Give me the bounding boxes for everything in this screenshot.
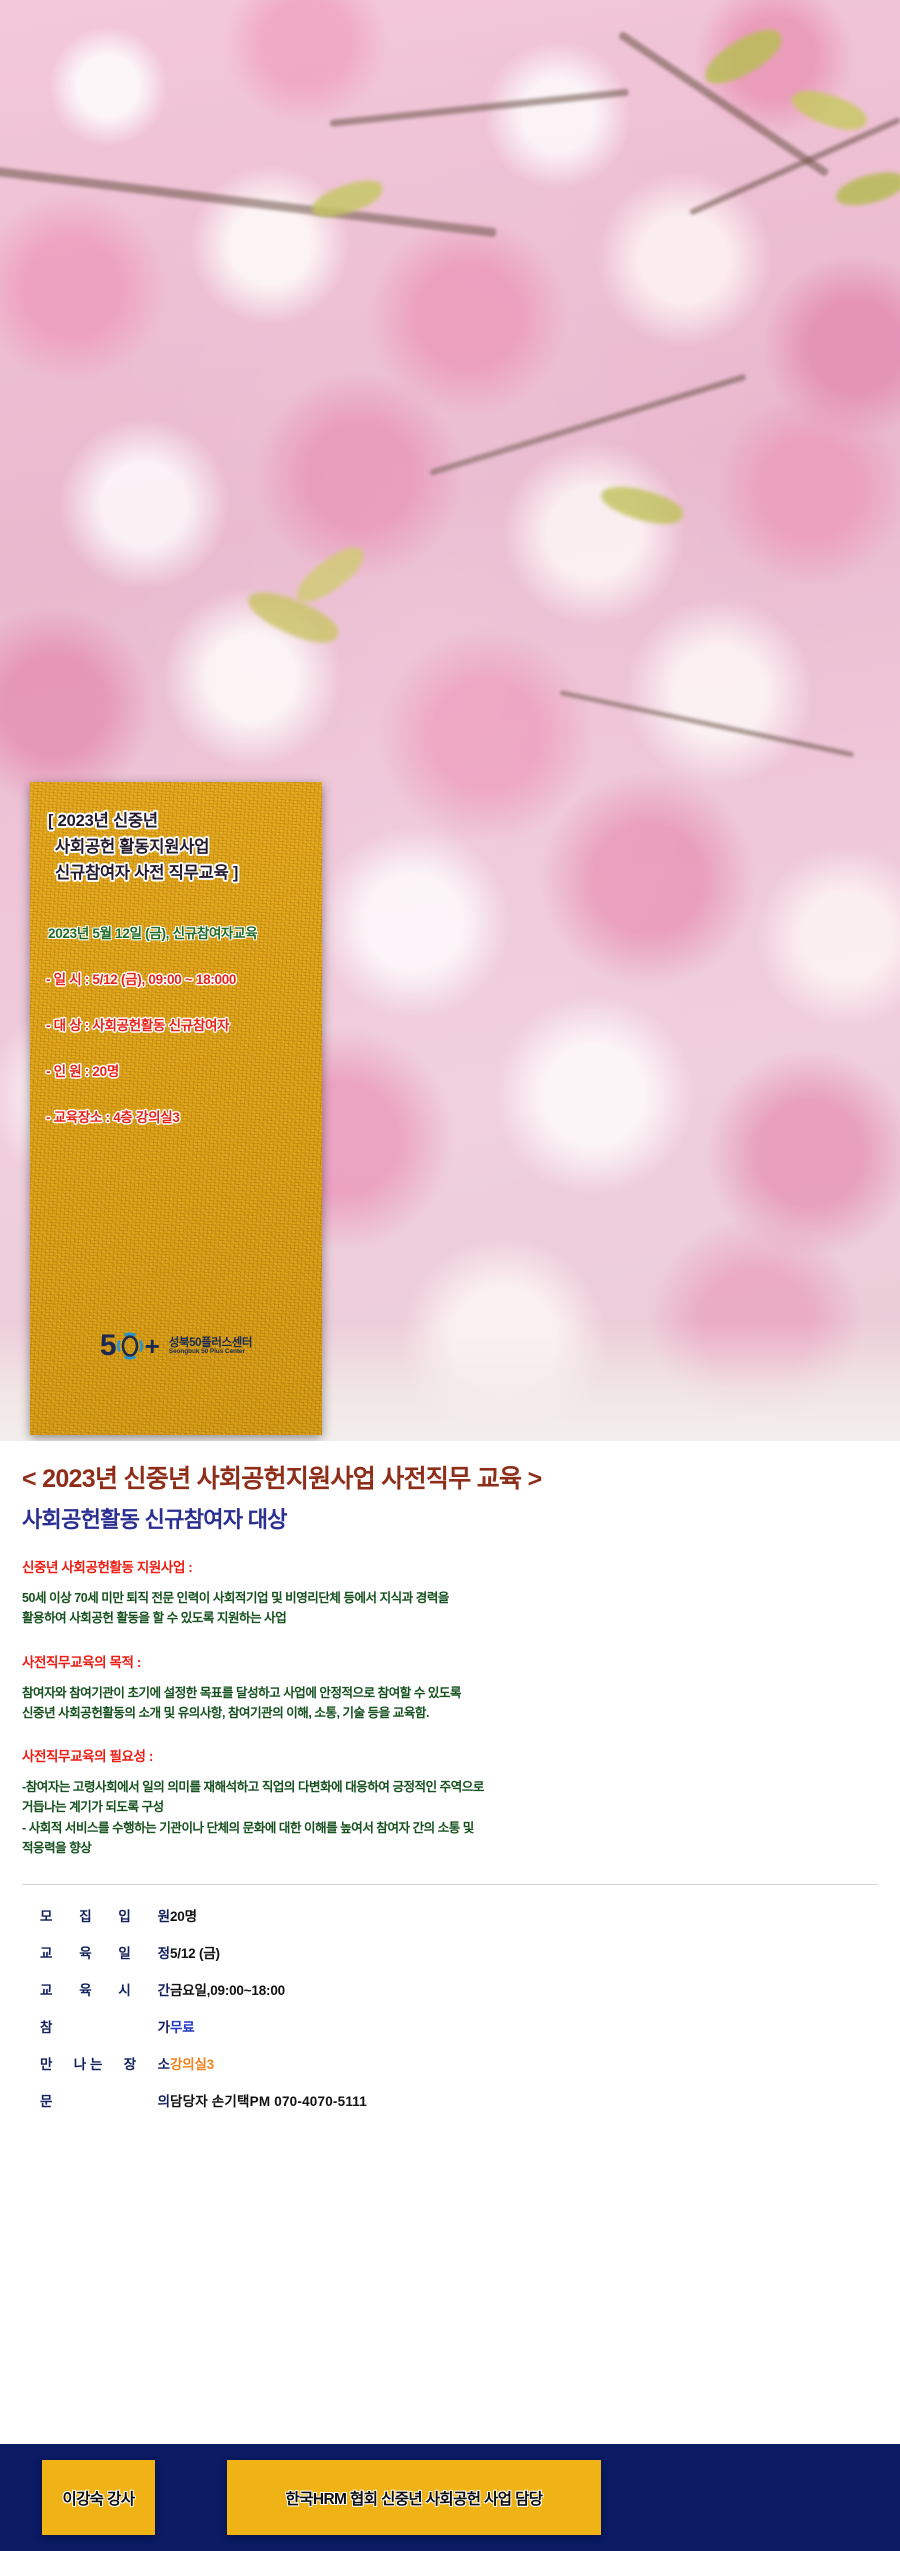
section-body-line: 50세 이상 70세 미만 퇴직 전문 인력이 사회적기업 및 비영리단체 등에…	[22, 1588, 900, 1608]
label-char: 집	[79, 1905, 91, 1925]
table-row-value: 무료	[170, 2016, 194, 2036]
table-row: 참 가 무료	[40, 2016, 900, 2036]
page-subtitle: 사회공헌활동 신규참여자 대상	[22, 1502, 900, 1534]
poster-date-line: 2023년 5월 12일 (금), 신규참여자교육	[44, 922, 308, 942]
instructor-badge-label: 이강숙 강사	[62, 2487, 134, 2509]
section-body-line: 거듭나는 계기가 되도록 구성	[22, 1797, 900, 1817]
section-training-necessity: 사전직무교육의 필요성 : -참여자는 고령사회에서 일의 의미를 재해석하고 …	[0, 1745, 900, 1858]
section-body: 50세 이상 70세 미만 퇴직 전문 인력이 사회적기업 및 비영리단체 등에…	[22, 1588, 900, 1629]
content-area: < 2023년 신중년 사회공헌지원사업 사전직무 교육 > 사회공헌활동 신규…	[0, 1441, 900, 2127]
instructor-badge[interactable]: 이강숙 강사	[42, 2460, 155, 2535]
table-row-label: 참 가	[40, 2016, 170, 2036]
poster-title-line-3: 신규참여자 사전 직무교육 ]	[48, 860, 308, 886]
logo-name-korean: 성북50플러스센터	[169, 1337, 252, 1349]
logo-name-english: Seongbuk 50 Plus Center	[169, 1349, 252, 1356]
section-training-purpose: 사전직무교육의 목적 : 참여자와 참여기관이 초기에 설정한 목표를 달성하고…	[0, 1651, 900, 1724]
label-char: 육	[79, 1979, 91, 1999]
table-row-value: 강의실3	[170, 2053, 214, 2073]
section-body: -참여자는 고령사회에서 일의 의미를 재해석하고 직업의 다변화에 대응하여 …	[22, 1777, 900, 1858]
table-row-label: 만 나 는 장 소	[40, 2053, 170, 2073]
section-heading: 신중년 사회공헌활동 지원사업 :	[22, 1556, 900, 1576]
poster-detail-capacity: - 인 원 : 20명	[44, 1060, 308, 1080]
label-char: 장	[124, 2053, 136, 2073]
organization-badge-label: 한국HRM 협회 신중년 사회공헌 사업 담당	[286, 2487, 543, 2509]
label-char: 육	[79, 1942, 91, 1962]
label-char: 일	[118, 1942, 130, 1962]
section-body-line: 활용하여 사회공헌 활동을 할 수 있도록 지원하는 사업	[22, 1608, 900, 1628]
table-divider	[22, 1884, 878, 1885]
section-body-line: 참여자와 참여기관이 초기에 설정한 목표를 달성하고 사업에 안정적으로 참여…	[22, 1683, 900, 1703]
section-body-line: 적응력을 향상	[22, 1838, 900, 1858]
table-row-value: 담당자 손기택PM 070-4070-5111	[170, 2090, 367, 2110]
poster-detail-datetime: - 일 시 : 5/12 (금), 09:00 ~ 18:000	[44, 968, 308, 988]
label-char: 입	[118, 1905, 130, 1925]
table-row: 교 육 시 간 금요일,09:00~18:00	[40, 1979, 900, 1999]
poster-card: [ 2023년 신중년 사회공헌 활동지원사업 신규참여자 사전 직무교육 ] …	[30, 782, 322, 1435]
section-program-overview: 신중년 사회공헌활동 지원사업 : 50세 이상 70세 미만 퇴직 전문 인력…	[0, 1556, 900, 1629]
section-body: 참여자와 참여기관이 초기에 설정한 목표를 달성하고 사업에 안정적으로 참여…	[22, 1683, 900, 1724]
label-char: 원	[158, 1905, 170, 1925]
poster-card-title: [ 2023년 신중년 사회공헌 활동지원사업 신규참여자 사전 직무교육 ]	[44, 808, 308, 886]
organization-badge[interactable]: 한국HRM 협회 신중년 사회공헌 사업 담당	[227, 2460, 601, 2535]
label-char: 시	[118, 1979, 130, 1999]
footer-bar: 이강숙 강사 한국HRM 협회 신중년 사회공헌 사업 담당	[0, 2444, 900, 2551]
poster-detail-venue: - 교육장소 : 4층 강의실3	[44, 1106, 308, 1126]
label-char: 소	[158, 2053, 170, 2073]
logo-plus-sign: +	[145, 1333, 160, 1359]
section-heading: 사전직무교육의 필요성 :	[22, 1745, 900, 1765]
label-char: 문	[40, 2090, 52, 2110]
poster-detail-audience: - 대 상 : 사회공헌활동 신규참여자	[44, 1014, 308, 1034]
section-body-line: 신중년 사회공헌활동의 소개 및 유의사항, 참여기관의 이해, 소통, 기술 …	[22, 1703, 900, 1723]
table-row: 교 육 일 정 5/12 (금)	[40, 1942, 900, 1962]
label-char: 나 는	[74, 2053, 103, 2073]
poster-title-line-1: [ 2023년 신중년	[48, 808, 308, 834]
logo-mark: 5 +	[100, 1331, 160, 1361]
table-row-value: 5/12 (금)	[170, 1942, 220, 1962]
table-row-label: 교 육 일 정	[40, 1942, 170, 1962]
label-char: 만	[40, 2053, 52, 2073]
label-char: 교	[40, 1942, 52, 1962]
table-row-value: 20명	[170, 1905, 197, 1925]
table-row: 문 의 담당자 손기택PM 070-4070-5111	[40, 2090, 900, 2110]
table-row-label: 교 육 시 간	[40, 1979, 170, 1999]
table-row-label: 문 의	[40, 2090, 170, 2110]
logo-digit-5: 5	[100, 1331, 116, 1361]
table-row-value: 금요일,09:00~18:00	[170, 1979, 285, 1999]
label-char: 참	[40, 2016, 52, 2036]
logo-center-name: 성북50플러스센터 Seongbuk 50 Plus Center	[169, 1337, 252, 1356]
label-char: 가	[158, 2016, 170, 2036]
section-heading: 사전직무교육의 목적 :	[22, 1651, 900, 1671]
section-body-line: -참여자는 고령사회에서 일의 의미를 재해석하고 직업의 다변화에 대응하여 …	[22, 1777, 900, 1797]
label-char: 정	[158, 1942, 170, 1962]
seongbuk-50plus-logo: 5 + 성북50플러스센터 Seongbuk 50 Plus Center	[30, 1331, 322, 1361]
info-table: 모 집 입 원 20명 교 육 일 정 5/12 (금) 교 육 시 간	[0, 1905, 900, 2110]
section-body-line: - 사회적 서비스를 수행하는 기관이나 단체의 문화에 대한 이해를 높여서 …	[22, 1818, 900, 1838]
label-char: 간	[158, 1979, 170, 1999]
poster-title-line-2: 사회공헌 활동지원사업	[48, 834, 308, 860]
logo-ring-icon	[115, 1331, 145, 1361]
table-row: 모 집 입 원 20명	[40, 1905, 900, 1925]
label-char: 교	[40, 1979, 52, 1999]
table-row-label: 모 집 입 원	[40, 1905, 170, 1925]
table-row: 만 나 는 장 소 강의실3	[40, 2053, 900, 2073]
page-title: < 2023년 신중년 사회공헌지원사업 사전직무 교육 >	[22, 1459, 900, 1495]
label-char: 의	[158, 2090, 170, 2110]
label-char: 모	[40, 1905, 52, 1925]
